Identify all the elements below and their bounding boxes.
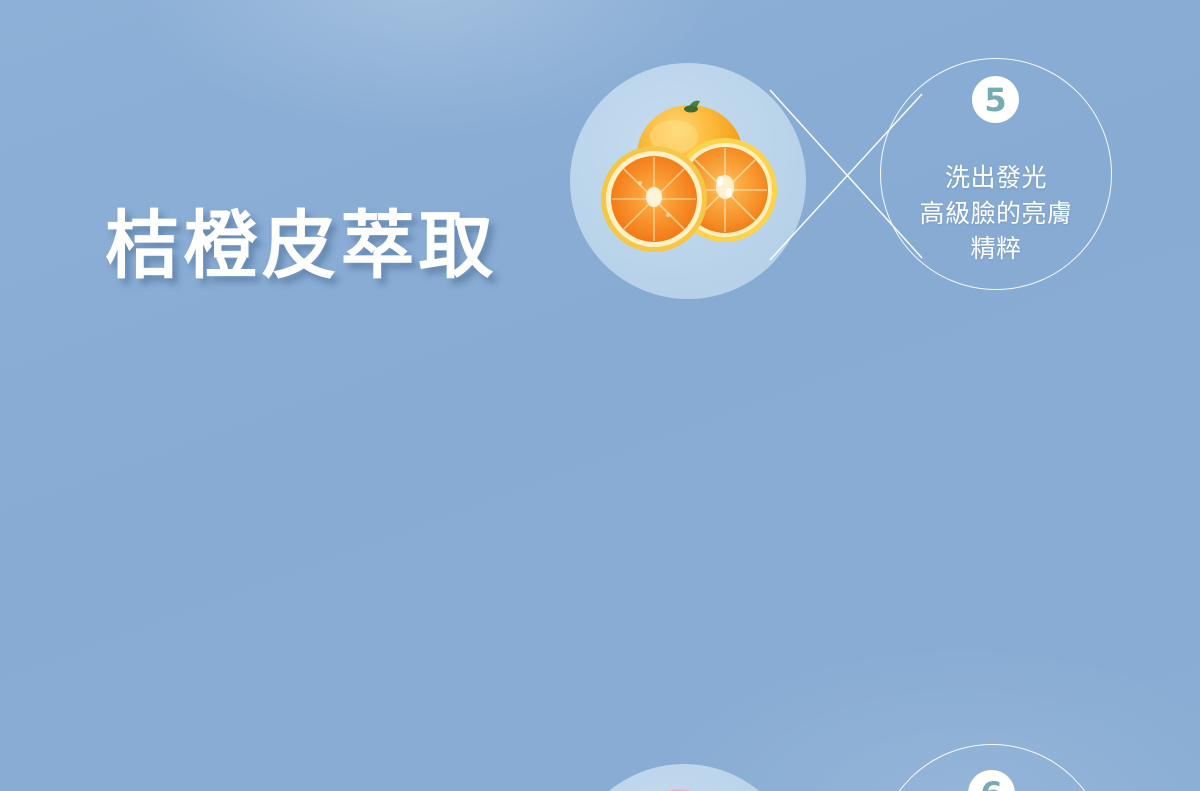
pink-rose-photo (566, 764, 802, 791)
ingredient-row-orange: 桔橙皮萃取 (0, 0, 1200, 396)
callout-caption-5: 洗出發光 高級臉的亮膚 精粹 (880, 160, 1112, 267)
orange-fruit-photo (570, 63, 806, 299)
callout-badge-5: 5 (972, 76, 1019, 123)
infographic-canvas: 桔橙皮萃取 (0, 0, 1200, 791)
ingredient-image-circle-rose (566, 764, 802, 791)
ingredient-heading-orange: 桔橙皮萃取 (105, 204, 497, 291)
ingredient-image-circle-orange (570, 63, 806, 299)
ingredient-row-rose: 大馬士革 玫瑰花精油 (0, 340, 1200, 740)
